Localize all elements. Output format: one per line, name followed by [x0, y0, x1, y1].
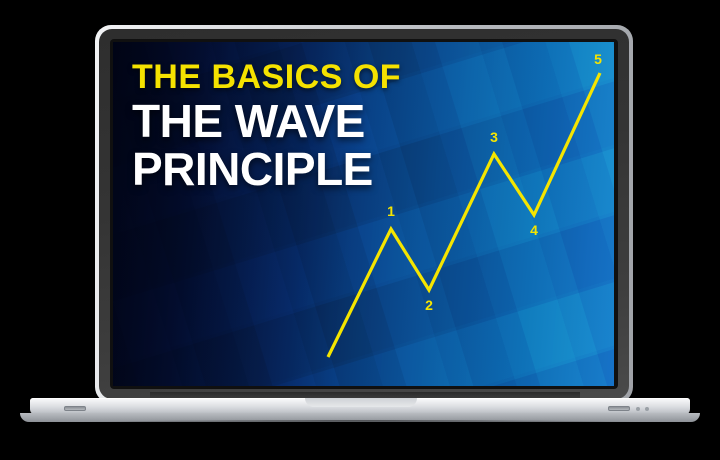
wave-label-3: 3 [490, 129, 498, 145]
laptop-drop-shadow [40, 420, 680, 428]
elliott-wave-chart: 12345 [113, 42, 614, 386]
wave-label-4: 4 [530, 222, 538, 238]
laptop-device: THE BASICS OF THE WAVE PRINCIPLE 12345 [0, 0, 720, 460]
wave-label-1: 1 [387, 203, 395, 219]
wave-line [328, 73, 600, 357]
indicator-dot-icon-1 [636, 407, 640, 411]
indicator-dot-icon-2 [645, 407, 649, 411]
card-slot-left-icon [64, 406, 86, 411]
wave-label-5: 5 [594, 51, 602, 67]
card-slot-right-icon [608, 406, 630, 411]
laptop-front-notch [305, 398, 417, 407]
screenshot-stage: THE BASICS OF THE WAVE PRINCIPLE 12345 [0, 0, 720, 460]
laptop-screen[interactable]: THE BASICS OF THE WAVE PRINCIPLE 12345 [113, 42, 614, 386]
wave-label-2: 2 [425, 297, 433, 313]
